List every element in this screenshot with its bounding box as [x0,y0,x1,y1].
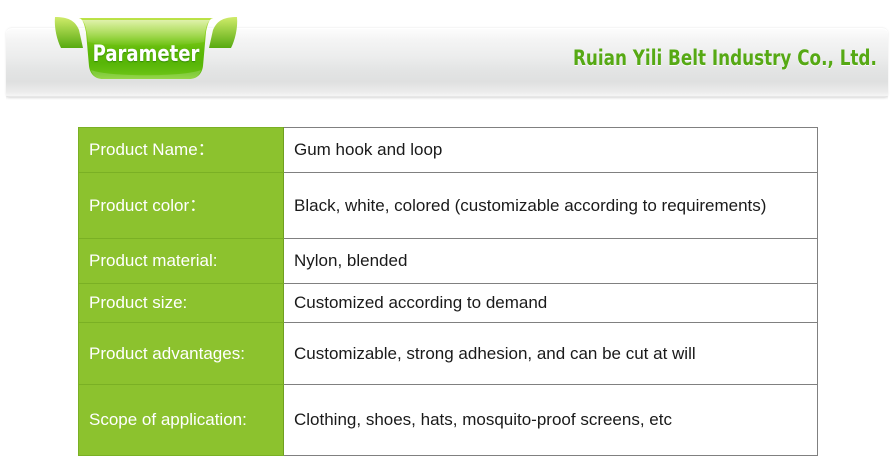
row-label: Product size: [79,284,284,323]
row-label: Product Name： [79,128,284,173]
table-row: Product Name： Gum hook and loop [79,128,818,173]
row-label: Product advantages: [79,323,284,385]
parameter-tab-label: Parameter [70,14,223,83]
parameter-tab[interactable]: Parameter [53,14,239,83]
row-label: Product color： [79,173,284,239]
table-row: Product material: Nylon, blended [79,239,818,284]
row-value: Nylon, blended [284,239,818,284]
table-row: Product size: Customized according to de… [79,284,818,323]
row-label: Scope of application: [79,385,284,456]
row-label: Product material: [79,239,284,284]
row-value: Customized according to demand [284,284,818,323]
table-row: Product advantages: Customizable, strong… [79,323,818,385]
row-value: Gum hook and loop [284,128,818,173]
row-value: Clothing, shoes, hats, mosquito-proof sc… [284,385,818,456]
row-value: Customizable, strong adhesion, and can b… [284,323,818,385]
page-header: Parameter Ruian Yili Belt Industry Co., … [0,0,895,110]
table-row: Product color： Black, white, colored (cu… [79,173,818,239]
table-row: Scope of application: Clothing, shoes, h… [79,385,818,456]
product-parameter-table: Product Name： Gum hook and loop Product … [78,127,818,456]
row-value: Black, white, colored (customizable acco… [284,173,818,239]
company-name: Ruian Yili Belt Industry Co., Ltd. [573,46,877,70]
